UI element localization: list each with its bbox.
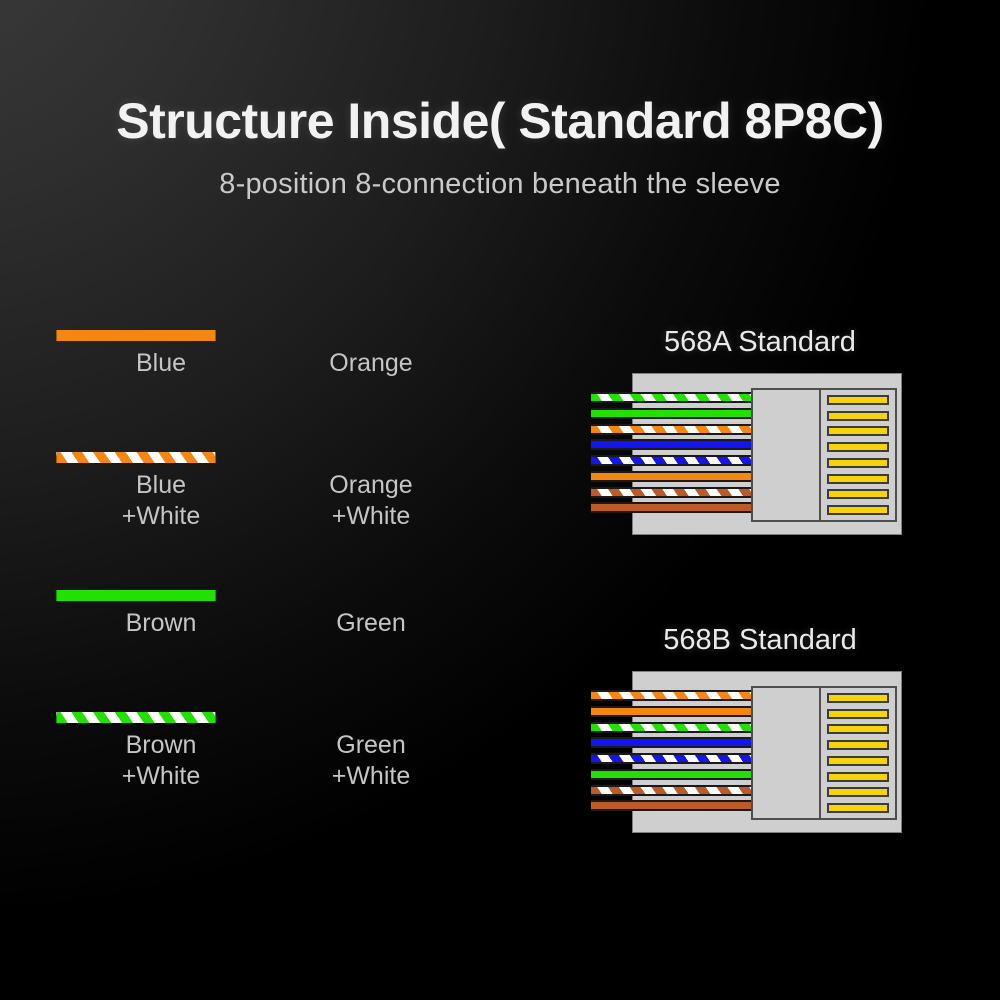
legend-label: Brown +White: [56, 730, 266, 792]
legend-label: Brown: [56, 608, 266, 639]
legend-item: Orange +White: [266, 452, 476, 590]
diagram-568b: 568B Standard: [590, 624, 930, 833]
contact-pin-8: [827, 803, 889, 813]
legend-row: Blue +WhiteOrange +White: [56, 452, 476, 590]
page-title: Structure Inside( Standard 8P8C): [0, 92, 1000, 150]
poster-canvas: Structure Inside( Standard 8P8C) 8-posit…: [0, 0, 1000, 1000]
diagram-568a-title: 568A Standard: [590, 326, 930, 359]
legend-label: Green: [266, 608, 476, 639]
legend-swatch-solid-green: [56, 590, 216, 601]
wire-pin-2: [591, 408, 751, 419]
legend-row: BrownGreen: [56, 590, 476, 712]
legend-item: Orange: [266, 330, 476, 452]
wire-pin-8: [591, 502, 751, 513]
legend-item: Green +White: [266, 712, 476, 850]
legend-item: Green: [266, 590, 476, 712]
wire-pin-6: [591, 769, 751, 780]
plug-housing-568a: [751, 388, 821, 522]
gold-contacts-568b: [819, 686, 897, 820]
legend-row: BlueOrange: [56, 330, 476, 452]
legend-label: Green +White: [266, 730, 476, 792]
wire-pin-3: [591, 722, 751, 733]
wire-pin-3: [591, 424, 751, 435]
page-subtitle: 8-position 8-connection beneath the slee…: [0, 168, 1000, 201]
rj45-plug-568b: [632, 671, 902, 833]
wire-pin-1: [591, 392, 751, 403]
legend-label: Orange +White: [266, 470, 476, 532]
wire-pin-5: [591, 753, 751, 764]
gold-contacts-568a: [819, 388, 897, 522]
wire-bundle-568b: [591, 690, 751, 816]
wire-pin-1: [591, 690, 751, 701]
diagram-568b-title: 568B Standard: [590, 624, 930, 657]
legend-item: Blue: [56, 330, 266, 452]
contact-pin-8: [827, 505, 889, 515]
wire-pin-2: [591, 706, 751, 717]
wire-pin-8: [591, 800, 751, 811]
contact-pin-3: [827, 426, 889, 436]
contact-pin-6: [827, 772, 889, 782]
wire-pin-5: [591, 455, 751, 466]
contact-pin-4: [827, 740, 889, 750]
wire-pin-4: [591, 737, 751, 748]
contact-pin-4: [827, 442, 889, 452]
contact-pin-2: [827, 709, 889, 719]
contact-pin-2: [827, 411, 889, 421]
contact-pin-5: [827, 458, 889, 468]
legend-label: Blue: [56, 348, 266, 379]
wire-bundle-568a: [591, 392, 751, 518]
legend-swatch-solid-orange: [56, 330, 216, 341]
wire-pin-7: [591, 785, 751, 796]
contact-pin-3: [827, 724, 889, 734]
diagram-568a: 568A Standard: [590, 326, 930, 535]
legend-label: Blue +White: [56, 470, 266, 532]
contact-pin-1: [827, 395, 889, 405]
wire-pin-6: [591, 471, 751, 482]
contact-pin-1: [827, 693, 889, 703]
wire-color-legend: BlueOrangeBlue +WhiteOrange +WhiteBrownG…: [56, 330, 476, 850]
legend-swatch-stripe-green: [56, 712, 216, 723]
wire-pin-4: [591, 439, 751, 450]
legend-row: Brown +WhiteGreen +White: [56, 712, 476, 850]
legend-label: Orange: [266, 348, 476, 379]
plug-housing-568b: [751, 686, 821, 820]
contact-pin-5: [827, 756, 889, 766]
legend-item: Brown: [56, 590, 266, 712]
legend-item: Blue +White: [56, 452, 266, 590]
rj45-plug-568a: [632, 373, 902, 535]
contact-pin-6: [827, 474, 889, 484]
legend-item: Brown +White: [56, 712, 266, 850]
contact-pin-7: [827, 787, 889, 797]
wire-pin-7: [591, 487, 751, 498]
contact-pin-7: [827, 489, 889, 499]
legend-swatch-stripe-orange: [56, 452, 216, 463]
